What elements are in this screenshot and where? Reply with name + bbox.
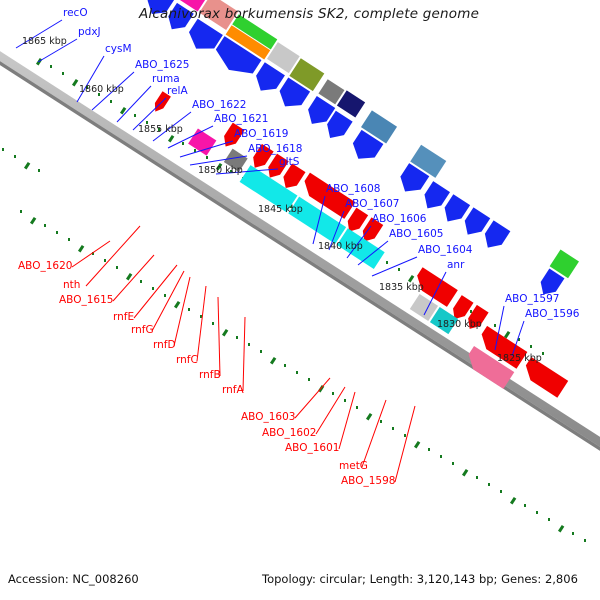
gene-label-abo-1601[interactable]: ABO_1601	[285, 443, 339, 454]
gene-label-ruma[interactable]: ruma	[152, 74, 180, 85]
gene-label-abo-1608[interactable]: ABO_1608	[326, 184, 380, 195]
gene-label-abo-1606[interactable]: ABO_1606	[372, 214, 426, 225]
gene-label-rnfa[interactable]: rnfA	[222, 385, 244, 396]
gene-label-abo-1596[interactable]: ABO_1596	[525, 309, 579, 320]
leader-line	[339, 392, 355, 449]
gene-label-glts[interactable]: gltS	[279, 157, 299, 168]
leader-line	[424, 272, 446, 315]
gene-label-abo-1598[interactable]: ABO_1598	[341, 476, 395, 487]
leader-line	[134, 265, 177, 318]
leader-line	[313, 196, 325, 244]
gene-label-abo-1602[interactable]: ABO_1602	[262, 428, 316, 439]
leader-line	[218, 297, 220, 376]
leader-line	[174, 277, 190, 346]
leader-line	[316, 387, 345, 434]
gene-label-rnfb[interactable]: rnfB	[199, 370, 221, 381]
gene-label-rnfg[interactable]: rnfG	[131, 325, 154, 336]
leader-line	[86, 226, 140, 286]
gene-label-abo-1621[interactable]: ABO_1621	[214, 114, 268, 125]
gene-label-rnfc[interactable]: rnfC	[176, 355, 198, 366]
gene-label-rela[interactable]: relA	[167, 86, 188, 97]
gene-label-anr[interactable]: anr	[447, 260, 464, 271]
leader-line	[77, 56, 104, 102]
gene-label-abo-1603[interactable]: ABO_1603	[241, 412, 295, 423]
gene-label-reco[interactable]: recO	[63, 8, 88, 19]
leader-line	[362, 400, 386, 467]
leader-line	[190, 156, 247, 165]
gene-label-rnfe[interactable]: rnfE	[113, 312, 134, 323]
scale-tick-label: 1845 kbp	[258, 204, 303, 215]
scale-tick-label: 1835 kbp	[379, 282, 424, 293]
gene-label-abo-1620[interactable]: ABO_1620	[18, 261, 72, 272]
gene-label-abo-1607[interactable]: ABO_1607	[345, 199, 399, 210]
gene-label-abo-1625[interactable]: ABO_1625	[135, 60, 189, 71]
leader-line	[113, 255, 154, 301]
gene-label-abo-1618[interactable]: ABO_1618	[248, 144, 302, 155]
scale-tick-label: 1860 kbp	[79, 84, 124, 95]
leader-line	[495, 306, 504, 350]
gene-label-abo-1619[interactable]: ABO_1619	[234, 129, 288, 140]
leader-line	[180, 141, 233, 157]
scale-tick-label: 1830 kbp	[437, 319, 482, 330]
gene-label-abo-1615[interactable]: ABO_1615	[59, 295, 113, 306]
page-title: Alcanivorax borkumensis SK2, complete ge…	[139, 6, 479, 22]
leader-line	[512, 321, 524, 356]
gene-label-abo-1604[interactable]: ABO_1604	[418, 245, 472, 256]
gene-label-cysm[interactable]: cysM	[105, 44, 132, 55]
leader-line	[395, 406, 415, 482]
gene-label-abo-1622[interactable]: ABO_1622	[192, 100, 246, 111]
genome-stats-text: Topology: circular; Length: 3,120,143 bp…	[262, 572, 578, 586]
gene-label-metg[interactable]: metG	[339, 461, 368, 472]
leader-line	[295, 378, 330, 418]
leader-line	[197, 286, 206, 361]
accession-text: Accession: NC_008260	[8, 572, 139, 586]
leader-line	[72, 241, 110, 267]
gene-label-nth[interactable]: nth	[63, 280, 80, 291]
gene-label-pdxj[interactable]: pdxJ	[78, 27, 101, 38]
leader-line	[372, 257, 417, 276]
gene-label-rnfd[interactable]: rnfD	[153, 340, 176, 351]
gene-label-abo-1605[interactable]: ABO_1605	[389, 229, 443, 240]
leader-line	[243, 317, 245, 391]
gene-label-abo-1597[interactable]: ABO_1597	[505, 294, 559, 305]
scale-tick-label: 1850 kbp	[198, 165, 243, 176]
scale-tick-label: 1865 kbp	[22, 36, 67, 47]
scale-tick-label: 1855 kbp	[138, 124, 183, 135]
genome-map-canvas: Alcanivorax borkumensis SK2, complete ge…	[0, 0, 600, 600]
scale-tick-label: 1840 kbp	[318, 241, 363, 252]
scale-tick-label: 1825 kbp	[497, 353, 542, 364]
